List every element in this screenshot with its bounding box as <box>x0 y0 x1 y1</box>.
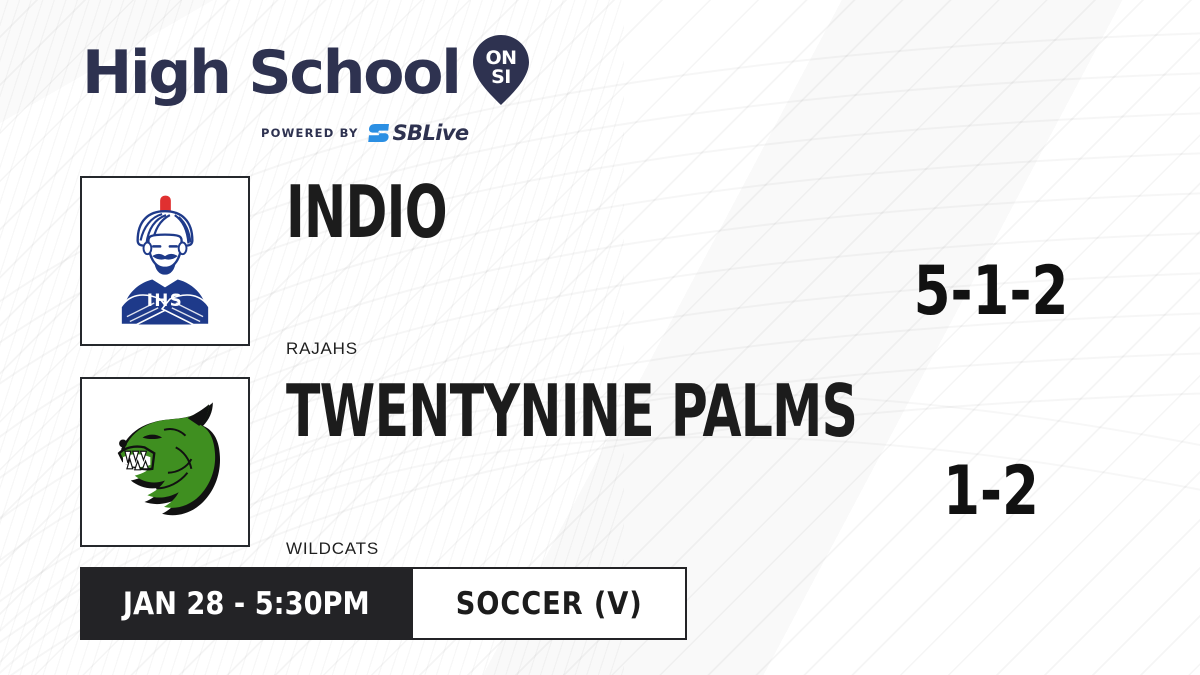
game-sport-badge: SOCCER (V) <box>413 567 687 640</box>
team-record: 1-2 <box>890 458 1093 526</box>
page-title: High School <box>82 45 460 102</box>
rajah-mascot-logo-icon: IHS <box>82 178 248 344</box>
logo-monogram: IHS <box>147 291 183 310</box>
wildcat-mascot-logo-icon <box>82 379 248 545</box>
team-logo-box: IHS <box>80 176 250 346</box>
team-logo-box <box>80 377 250 547</box>
team-mascot: WILDCATS <box>286 539 379 559</box>
team-mascot: RAJAHS <box>286 339 358 359</box>
game-datetime-label: JAN 28 - 5:30PM <box>123 586 370 622</box>
game-info-bar: JAN 28 - 5:30PM SOCCER (V) <box>80 567 687 640</box>
sblive-wordmark: SBLive <box>393 121 469 145</box>
pin-bottom-label: SI <box>491 66 511 88</box>
sblive-s-icon <box>368 123 390 143</box>
branding-title-row: High School ON SI <box>82 36 530 111</box>
sblive-logo: SBLive <box>368 121 469 145</box>
game-datetime-badge: JAN 28 - 5:30PM <box>80 567 413 640</box>
team-name: TWENTYNINE PALMS <box>286 375 857 447</box>
powered-by-row: POWERED BY SBLive <box>200 121 530 145</box>
site-branding: High School ON SI POWERED BY SBLive <box>82 36 530 145</box>
powered-by-label: POWERED BY <box>261 126 358 140</box>
team-record: 5-1-2 <box>890 258 1093 326</box>
team-name: INDIO <box>286 176 447 248</box>
on-si-pin-icon: ON SI <box>472 34 530 111</box>
game-sport-label: SOCCER (V) <box>455 586 642 622</box>
